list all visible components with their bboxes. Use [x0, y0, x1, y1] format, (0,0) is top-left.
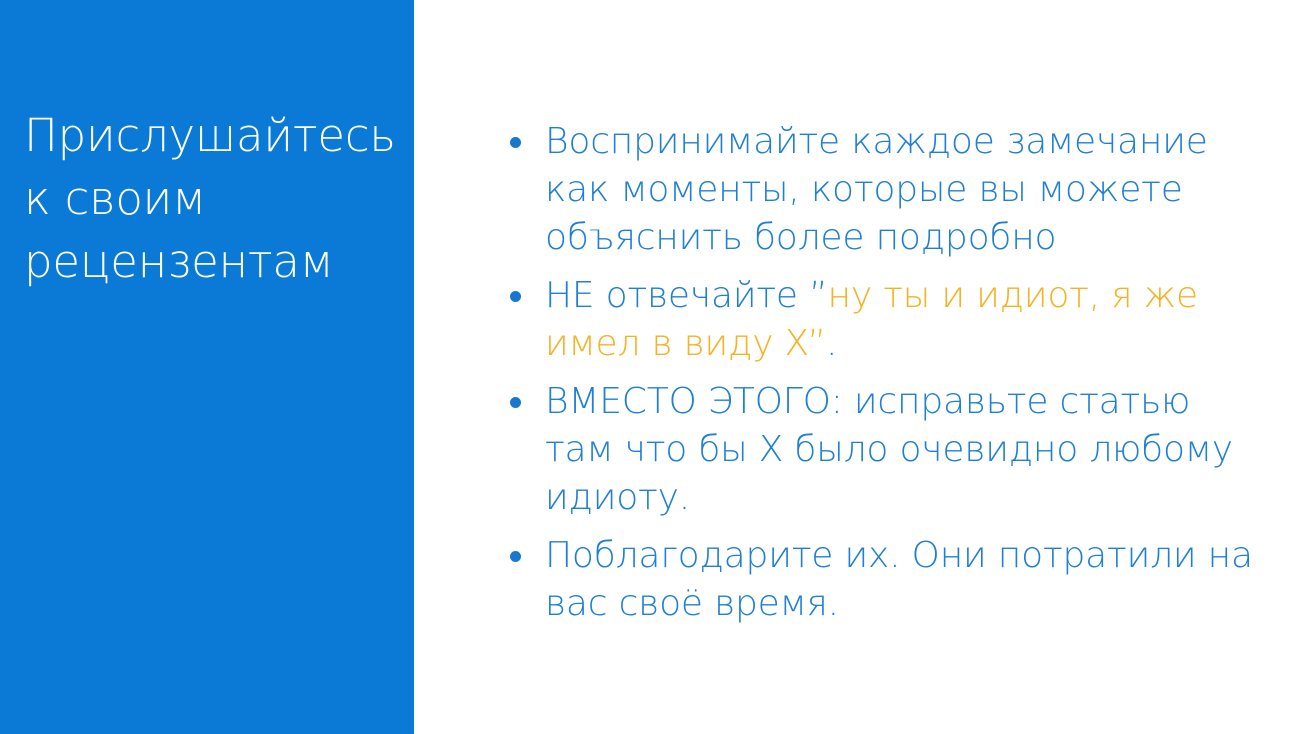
list-item-label: НЕ отвечайте ”ну ты и идиот, я же имел в… [545, 272, 1260, 368]
slide-canvas: Прислушайтесь к своим рецензентам Воспри… [0, 0, 1306, 734]
bullet-list: Воспринимайте каждое замечание как момен… [500, 118, 1260, 628]
bullet-dot-icon [510, 551, 521, 562]
list-item-label: ВМЕСТО ЭТОГО: исправьте статью там что б… [545, 378, 1260, 522]
text-segment: Воспринимайте каждое замечание как момен… [545, 121, 1208, 258]
list-item-label: Поблагодарите их. Они потратили на вас с… [545, 532, 1260, 628]
bullet-dot-icon [510, 291, 521, 302]
slide-body: Воспринимайте каждое замечание как момен… [414, 0, 1306, 734]
text-segment: НЕ отвечайте ” [545, 275, 828, 316]
bullet-dot-icon [510, 397, 521, 408]
text-segment: . [826, 323, 837, 364]
list-item: Воспринимайте каждое замечание как момен… [500, 118, 1260, 262]
page-title: Прислушайтесь к своим рецензентам [24, 104, 404, 293]
text-segment: Поблагодарите их. Они потратили на вас с… [545, 535, 1253, 624]
list-item-label: Воспринимайте каждое замечание как момен… [545, 118, 1260, 262]
list-item: Поблагодарите их. Они потратили на вас с… [500, 532, 1260, 628]
list-item: НЕ отвечайте ”ну ты и идиот, я же имел в… [500, 272, 1260, 368]
text-segment: ВМЕСТО ЭТОГО: исправьте статью там что б… [545, 381, 1233, 518]
bullet-dot-icon [510, 137, 521, 148]
list-item: ВМЕСТО ЭТОГО: исправьте статью там что б… [500, 378, 1260, 522]
title-panel: Прислушайтесь к своим рецензентам [0, 0, 414, 734]
